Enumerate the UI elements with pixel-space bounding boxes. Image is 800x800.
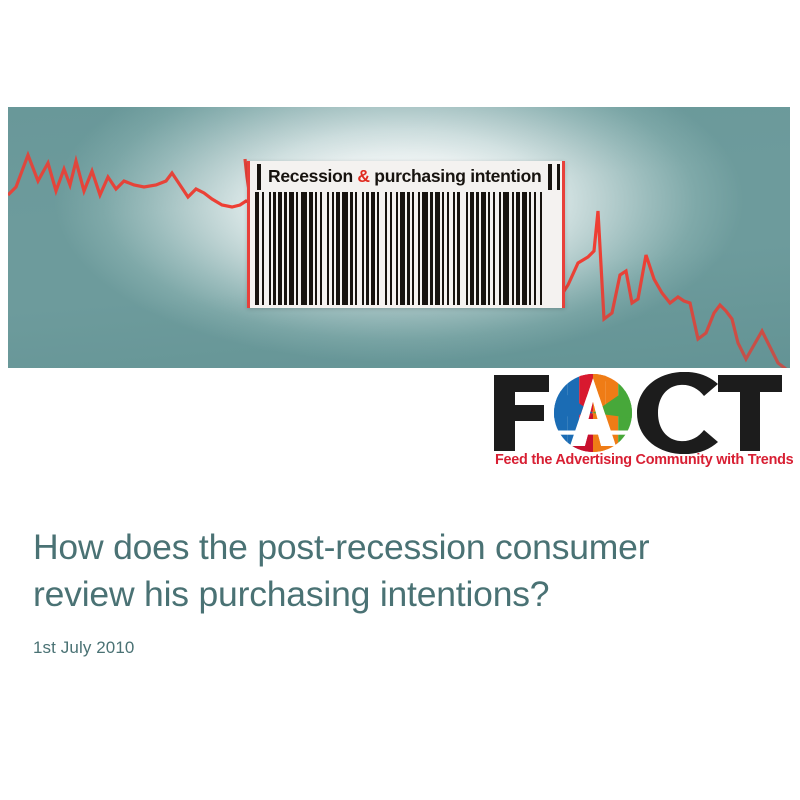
- logo-letter-a-colorwheel: [554, 372, 632, 452]
- barcode-title-ampersand: &: [357, 166, 369, 186]
- title-block: How does the post-recession consumerrevi…: [33, 524, 753, 658]
- page-title-line-1: How does the post-recession consumer: [33, 527, 649, 567]
- trend-line-right: [553, 211, 786, 368]
- header-banner-image: Recession & purchasing intention: [8, 107, 790, 368]
- fact-wordmark: [492, 372, 784, 454]
- barcode-bar: [542, 192, 548, 305]
- fact-logo: Feed the Advertising Community with Tren…: [492, 372, 784, 477]
- logo-letter-f: [494, 375, 549, 451]
- barcode-guard-bar-right-b: [557, 164, 560, 190]
- barcode-bars: [255, 192, 558, 305]
- barcode-right-red-edge: [562, 161, 565, 308]
- logo-tagline: Feed the Advertising Community with Tren…: [495, 452, 787, 468]
- barcode-title-text: Recession & purchasing intention: [268, 168, 541, 186]
- barcode-graphic: Recession & purchasing intention: [247, 161, 565, 308]
- trend-line-left: [8, 155, 264, 235]
- logo-letter-c: [637, 372, 718, 454]
- barcode-title-suffix: purchasing intention: [370, 166, 542, 186]
- barcode-guard-bar-left: [257, 164, 261, 190]
- barcode-title-prefix: Recession: [268, 166, 357, 186]
- logo-letter-t: [718, 375, 782, 451]
- barcode-guard-bar-right-a: [548, 164, 552, 190]
- barcode-label-row: Recession & purchasing intention: [257, 163, 557, 191]
- page-title-line-2: review his purchasing intentions?: [33, 574, 549, 614]
- barcode-left-red-edge: [247, 161, 250, 308]
- page-title: How does the post-recession consumerrevi…: [33, 524, 753, 618]
- slide-date: 1st July 2010: [33, 638, 753, 658]
